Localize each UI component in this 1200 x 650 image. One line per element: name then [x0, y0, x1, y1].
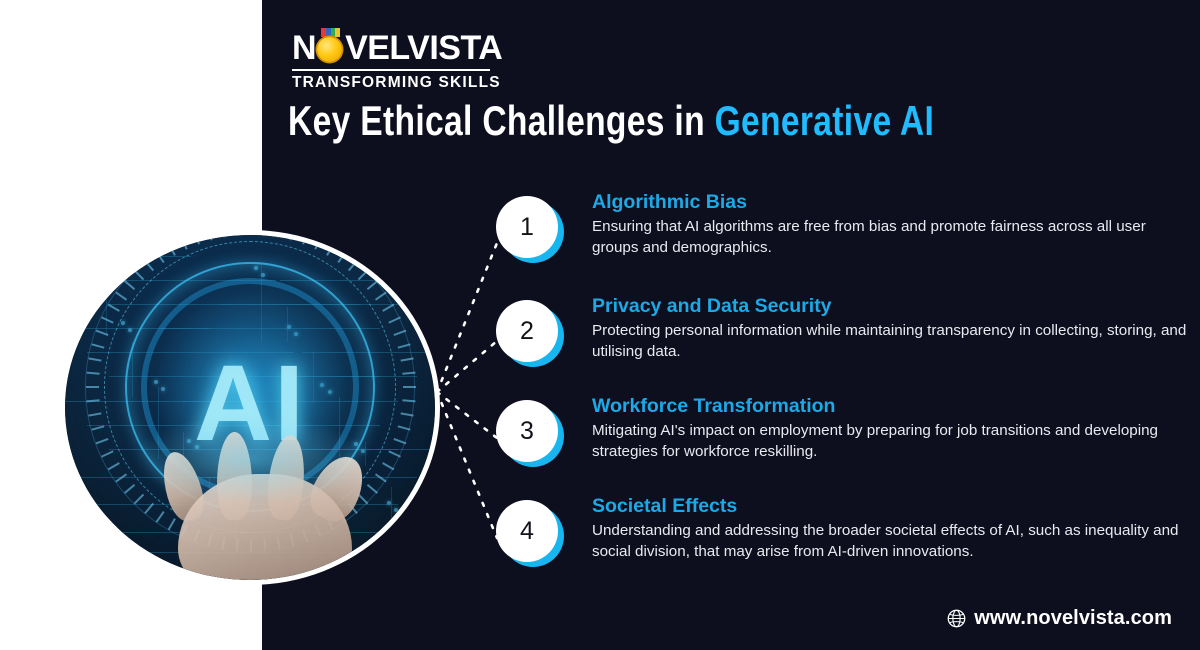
brand-logo[interactable]: N VELVISTA TRANSFORMING SKILLS — [292, 30, 502, 92]
logo-letters-velvista: VELVISTA — [345, 31, 502, 65]
page-title: Key Ethical Challenges in Generative AI — [288, 99, 934, 144]
item-description: Mitigating AI's impact on employment by … — [592, 421, 1192, 461]
item-heading: Algorithmic Bias — [592, 190, 1192, 214]
item-number: 3 — [496, 400, 558, 462]
infographic-canvas: N VELVISTA TRANSFORMING SKILLS Key Ethic… — [0, 0, 1200, 650]
hero-frame: AI — [60, 230, 440, 585]
medal-disc — [317, 37, 342, 62]
footer-website[interactable]: www.novelvista.com — [947, 607, 1172, 630]
item-body: Algorithmic Bias Ensuring that AI algori… — [592, 190, 1192, 258]
page-title-main: Key Ethical Challenges in — [288, 97, 715, 144]
item-number: 2 — [496, 300, 558, 362]
item-number-badge: 2 — [496, 300, 564, 368]
hero-artwork: AI — [65, 235, 435, 580]
hero-image-circle: AI — [60, 230, 440, 585]
logo-letter-n: N — [292, 31, 316, 65]
logo-wordmark: N VELVISTA — [292, 30, 502, 66]
item-number: 1 — [496, 196, 558, 258]
gold-medal-icon — [317, 35, 344, 62]
item-description: Protecting personal information while ma… — [592, 321, 1192, 361]
item-heading: Societal Effects — [592, 494, 1192, 518]
item-body: Societal Effects Understanding and addre… — [592, 494, 1192, 562]
page-title-accent: Generative AI — [715, 97, 935, 144]
medal-ribbon — [321, 28, 340, 37]
item-number: 4 — [496, 500, 558, 562]
item-description: Ensuring that AI algorithms are free fro… — [592, 217, 1192, 257]
item-heading: Workforce Transformation — [592, 394, 1192, 418]
logo-divider — [292, 69, 490, 71]
hologram-glow — [132, 414, 369, 504]
item-number-badge: 4 — [496, 500, 564, 568]
item-number-badge: 3 — [496, 400, 564, 468]
item-body: Privacy and Data Security Protecting per… — [592, 294, 1192, 362]
item-heading: Privacy and Data Security — [592, 294, 1192, 318]
logo-tagline: TRANSFORMING SKILLS — [292, 74, 502, 92]
item-description: Understanding and addressing the broader… — [592, 521, 1192, 561]
website-url: www.novelvista.com — [974, 607, 1172, 630]
item-number-badge: 1 — [496, 196, 564, 264]
item-body: Workforce Transformation Mitigating AI's… — [592, 394, 1192, 462]
globe-icon — [947, 609, 966, 628]
